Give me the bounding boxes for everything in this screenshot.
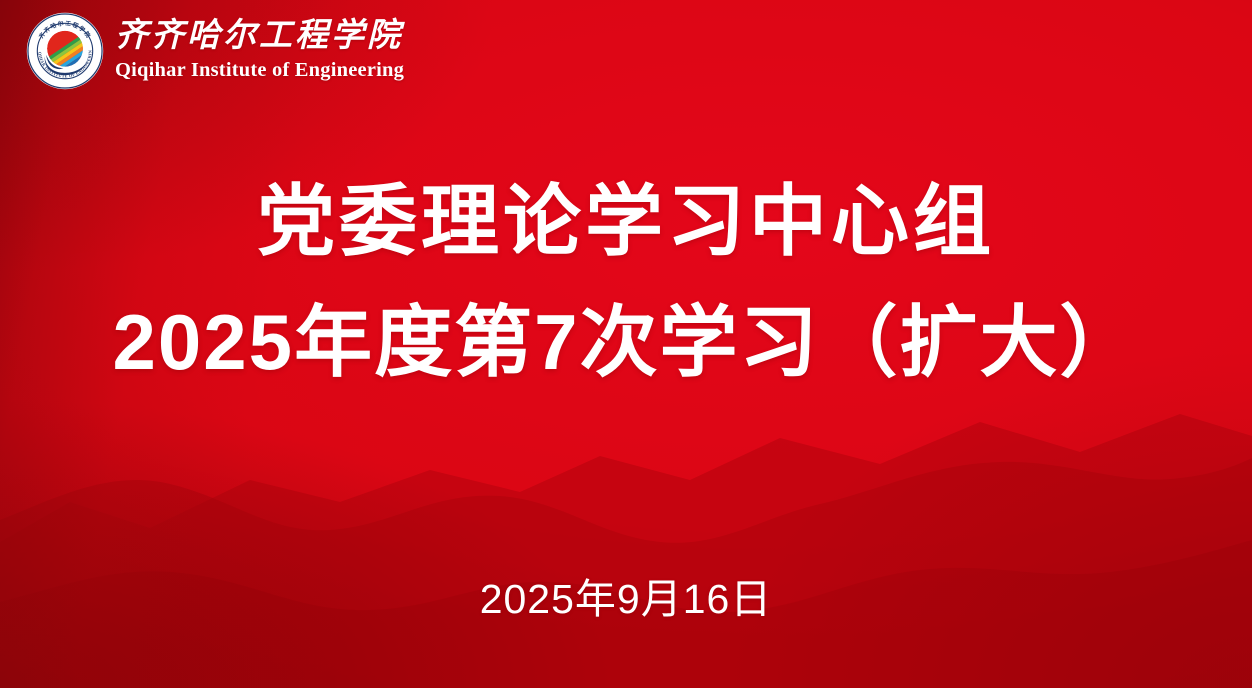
slide-title-line-1: 党委理论学习中心组 [0, 176, 1252, 268]
slide-headline-block: 党委理论学习中心组 2025年度第7次学习（扩大） [0, 176, 1252, 388]
slide-title-line-2: 2025年度第7次学习（扩大） [0, 296, 1252, 388]
slide-date: 2025年9月16日 [0, 565, 1252, 625]
presentation-title-slide: 齐齐哈尔工程学院 QIQIHAR INSTITUTE OF ENGINEERIN… [0, 0, 1252, 688]
university-brand-lockup: 齐齐哈尔工程学院 QIQIHAR INSTITUTE OF ENGINEERIN… [26, 12, 404, 90]
university-name-en: Qiqihar Institute of Engineering [115, 58, 404, 83]
university-crest-icon: 齐齐哈尔工程学院 QIQIHAR INSTITUTE OF ENGINEERIN… [26, 12, 104, 90]
university-name-cn: 齐齐哈尔工程学院 [115, 18, 404, 55]
university-name-block: 齐齐哈尔工程学院 Qiqihar Institute of Engineerin… [115, 18, 404, 85]
